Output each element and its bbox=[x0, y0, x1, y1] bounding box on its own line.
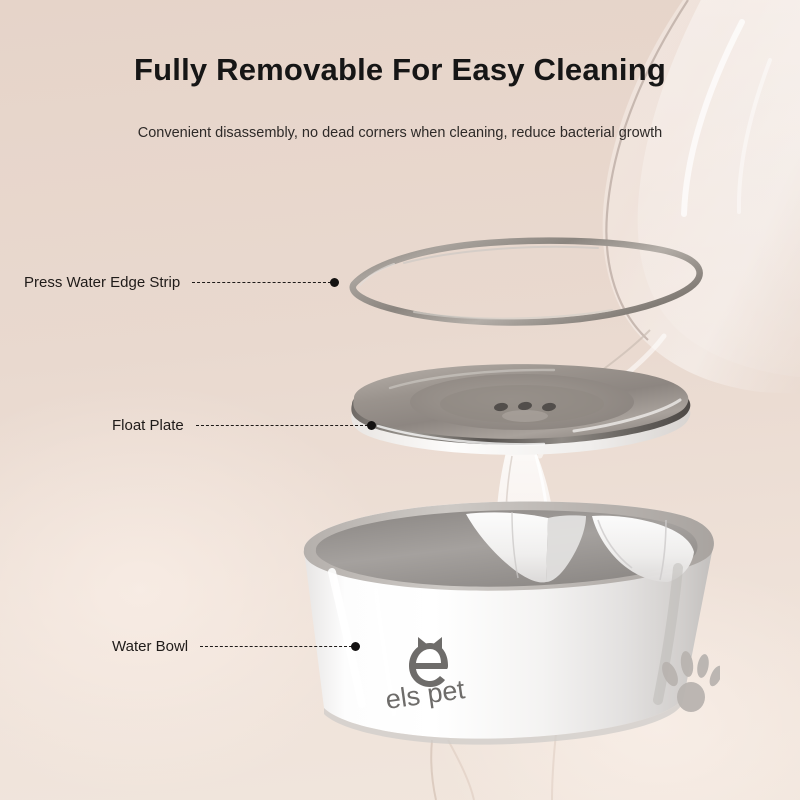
float-plate bbox=[344, 352, 704, 464]
callout-dot-edge-strip bbox=[330, 278, 339, 287]
callout-dot-water-bowl bbox=[351, 642, 360, 651]
callout-leader-line-float-plate bbox=[196, 425, 368, 426]
water-bowl bbox=[280, 498, 720, 748]
callout-leader-line-water-bowl bbox=[200, 646, 352, 647]
product-infographic: Fully Removable For Easy Cleaning Conven… bbox=[0, 0, 800, 800]
callout-water-bowl: Water Bowl bbox=[112, 636, 360, 656]
press-water-edge-strip bbox=[344, 232, 710, 328]
callout-label-edge-strip: Press Water Edge Strip bbox=[24, 274, 180, 291]
callout-press-water-edge-strip: Press Water Edge Strip bbox=[24, 272, 339, 292]
page-subtitle: Convenient disassembly, no dead corners … bbox=[0, 125, 800, 141]
page-title: Fully Removable For Easy Cleaning bbox=[0, 52, 800, 88]
callout-label-water-bowl: Water Bowl bbox=[112, 638, 188, 655]
callout-float-plate: Float Plate bbox=[112, 415, 376, 435]
callout-label-float-plate: Float Plate bbox=[112, 417, 184, 434]
callout-dot-float-plate bbox=[367, 421, 376, 430]
callout-leader-line-edge-strip bbox=[192, 282, 331, 283]
